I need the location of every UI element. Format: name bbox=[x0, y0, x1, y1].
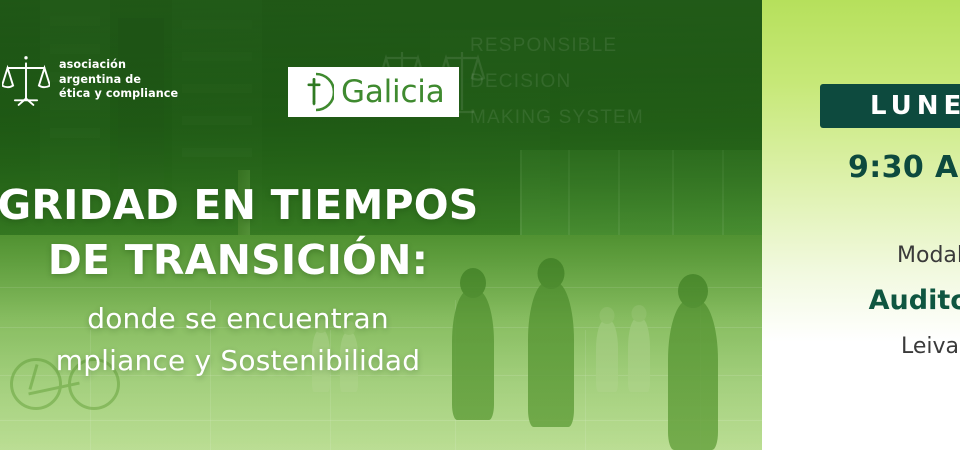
organizer-name: asociación argentina de ética y complian… bbox=[59, 58, 178, 101]
page-subtitle: donde se encuentran mpliance y Sostenibi… bbox=[0, 298, 588, 382]
event-time: 9:30 A 13 bbox=[820, 150, 960, 185]
organizer-logo: asociación argentina de ética y complian… bbox=[2, 52, 178, 108]
day-label: LUNES bbox=[870, 91, 960, 121]
event-details-panel: LUNES 9:30 A 13 Modal Auditori Leiva bbox=[762, 0, 960, 450]
venue-address: Leiva bbox=[820, 334, 960, 359]
event-poster: RESPONSIBLE DECISION MAKING SYSTEM asoci… bbox=[0, 0, 960, 450]
venue-name: Auditori bbox=[820, 285, 960, 316]
page-title: GRIDAD EN TIEMPOS DE TRANSICIÓN: bbox=[0, 178, 588, 288]
galicia-sword-circle-icon bbox=[296, 72, 334, 112]
left-photo-panel: RESPONSIBLE DECISION MAKING SYSTEM asoci… bbox=[0, 0, 762, 450]
balance-scales-icon bbox=[2, 52, 50, 108]
sponsor-logo: Galicia bbox=[288, 67, 459, 117]
sponsor-name: Galicia bbox=[341, 74, 445, 110]
day-badge: LUNES bbox=[820, 84, 960, 128]
modality-label: Modal bbox=[820, 243, 960, 268]
background-watermark-text: RESPONSIBLE DECISION MAKING SYSTEM bbox=[470, 28, 762, 158]
